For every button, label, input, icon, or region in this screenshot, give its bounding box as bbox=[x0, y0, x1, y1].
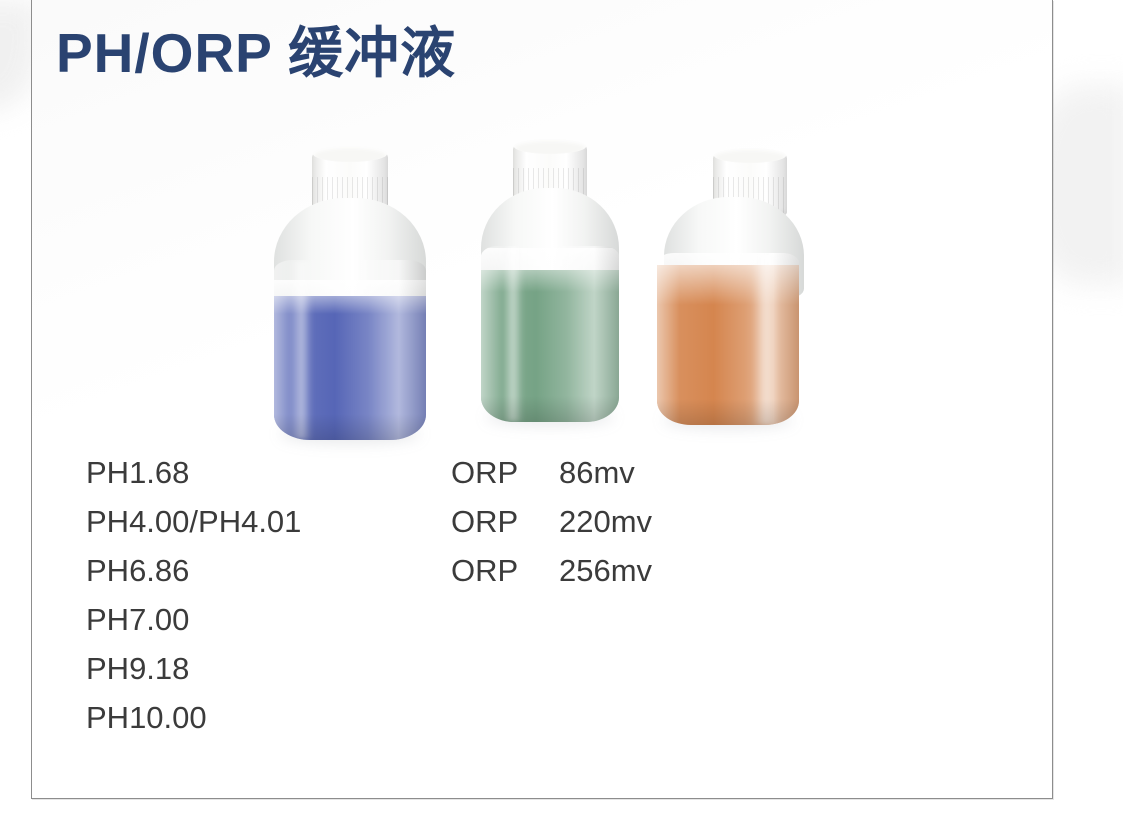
bottle-highlight bbox=[290, 260, 312, 440]
page-title: PH/ORP 缓冲液 bbox=[56, 22, 456, 85]
orp-value: 220mv bbox=[559, 504, 652, 539]
bottle-bottom-shade bbox=[274, 414, 426, 440]
bottle-cap-top bbox=[514, 139, 586, 154]
orp-value: 256mv bbox=[559, 553, 652, 588]
list-item: PH4.00/PH4.01 bbox=[86, 497, 301, 546]
bottle-cap-top bbox=[313, 146, 387, 162]
bottle-body bbox=[481, 246, 619, 422]
list-item: PH9.18 bbox=[86, 644, 301, 693]
list-item: PH10.00 bbox=[86, 693, 301, 742]
product-photo bbox=[232, 110, 832, 430]
blue-buffer-bottle bbox=[260, 140, 440, 440]
bottle-body bbox=[657, 253, 799, 425]
list-item: ORP86mv bbox=[451, 448, 652, 497]
list-item: PH7.00 bbox=[86, 595, 301, 644]
product-card: PH/ORP 缓冲液 bbox=[31, 0, 1053, 799]
orp-value-list: ORP86mv ORP220mv ORP256mv bbox=[451, 448, 652, 595]
list-item: PH1.68 bbox=[86, 448, 301, 497]
orp-label: ORP bbox=[451, 497, 559, 546]
orp-label: ORP bbox=[451, 448, 559, 497]
bottle-bottom-shade bbox=[481, 396, 619, 422]
list-item: PH6.86 bbox=[86, 546, 301, 595]
spec-lists: PH1.68 PH4.00/PH4.01 PH6.86 PH7.00 PH9.1… bbox=[32, 448, 1052, 758]
list-item: ORP256mv bbox=[451, 546, 652, 595]
list-item: ORP220mv bbox=[451, 497, 652, 546]
green-buffer-bottle bbox=[467, 134, 632, 422]
orp-value: 86mv bbox=[559, 455, 635, 490]
orange-buffer-bottle bbox=[640, 145, 815, 425]
bottle-body bbox=[274, 260, 426, 440]
ph-value-list: PH1.68 PH4.00/PH4.01 PH6.86 PH7.00 PH9.1… bbox=[86, 448, 301, 742]
bottle-cap-top bbox=[714, 148, 786, 163]
bottle-bottom-shade bbox=[657, 399, 799, 425]
orp-label: ORP bbox=[451, 546, 559, 595]
